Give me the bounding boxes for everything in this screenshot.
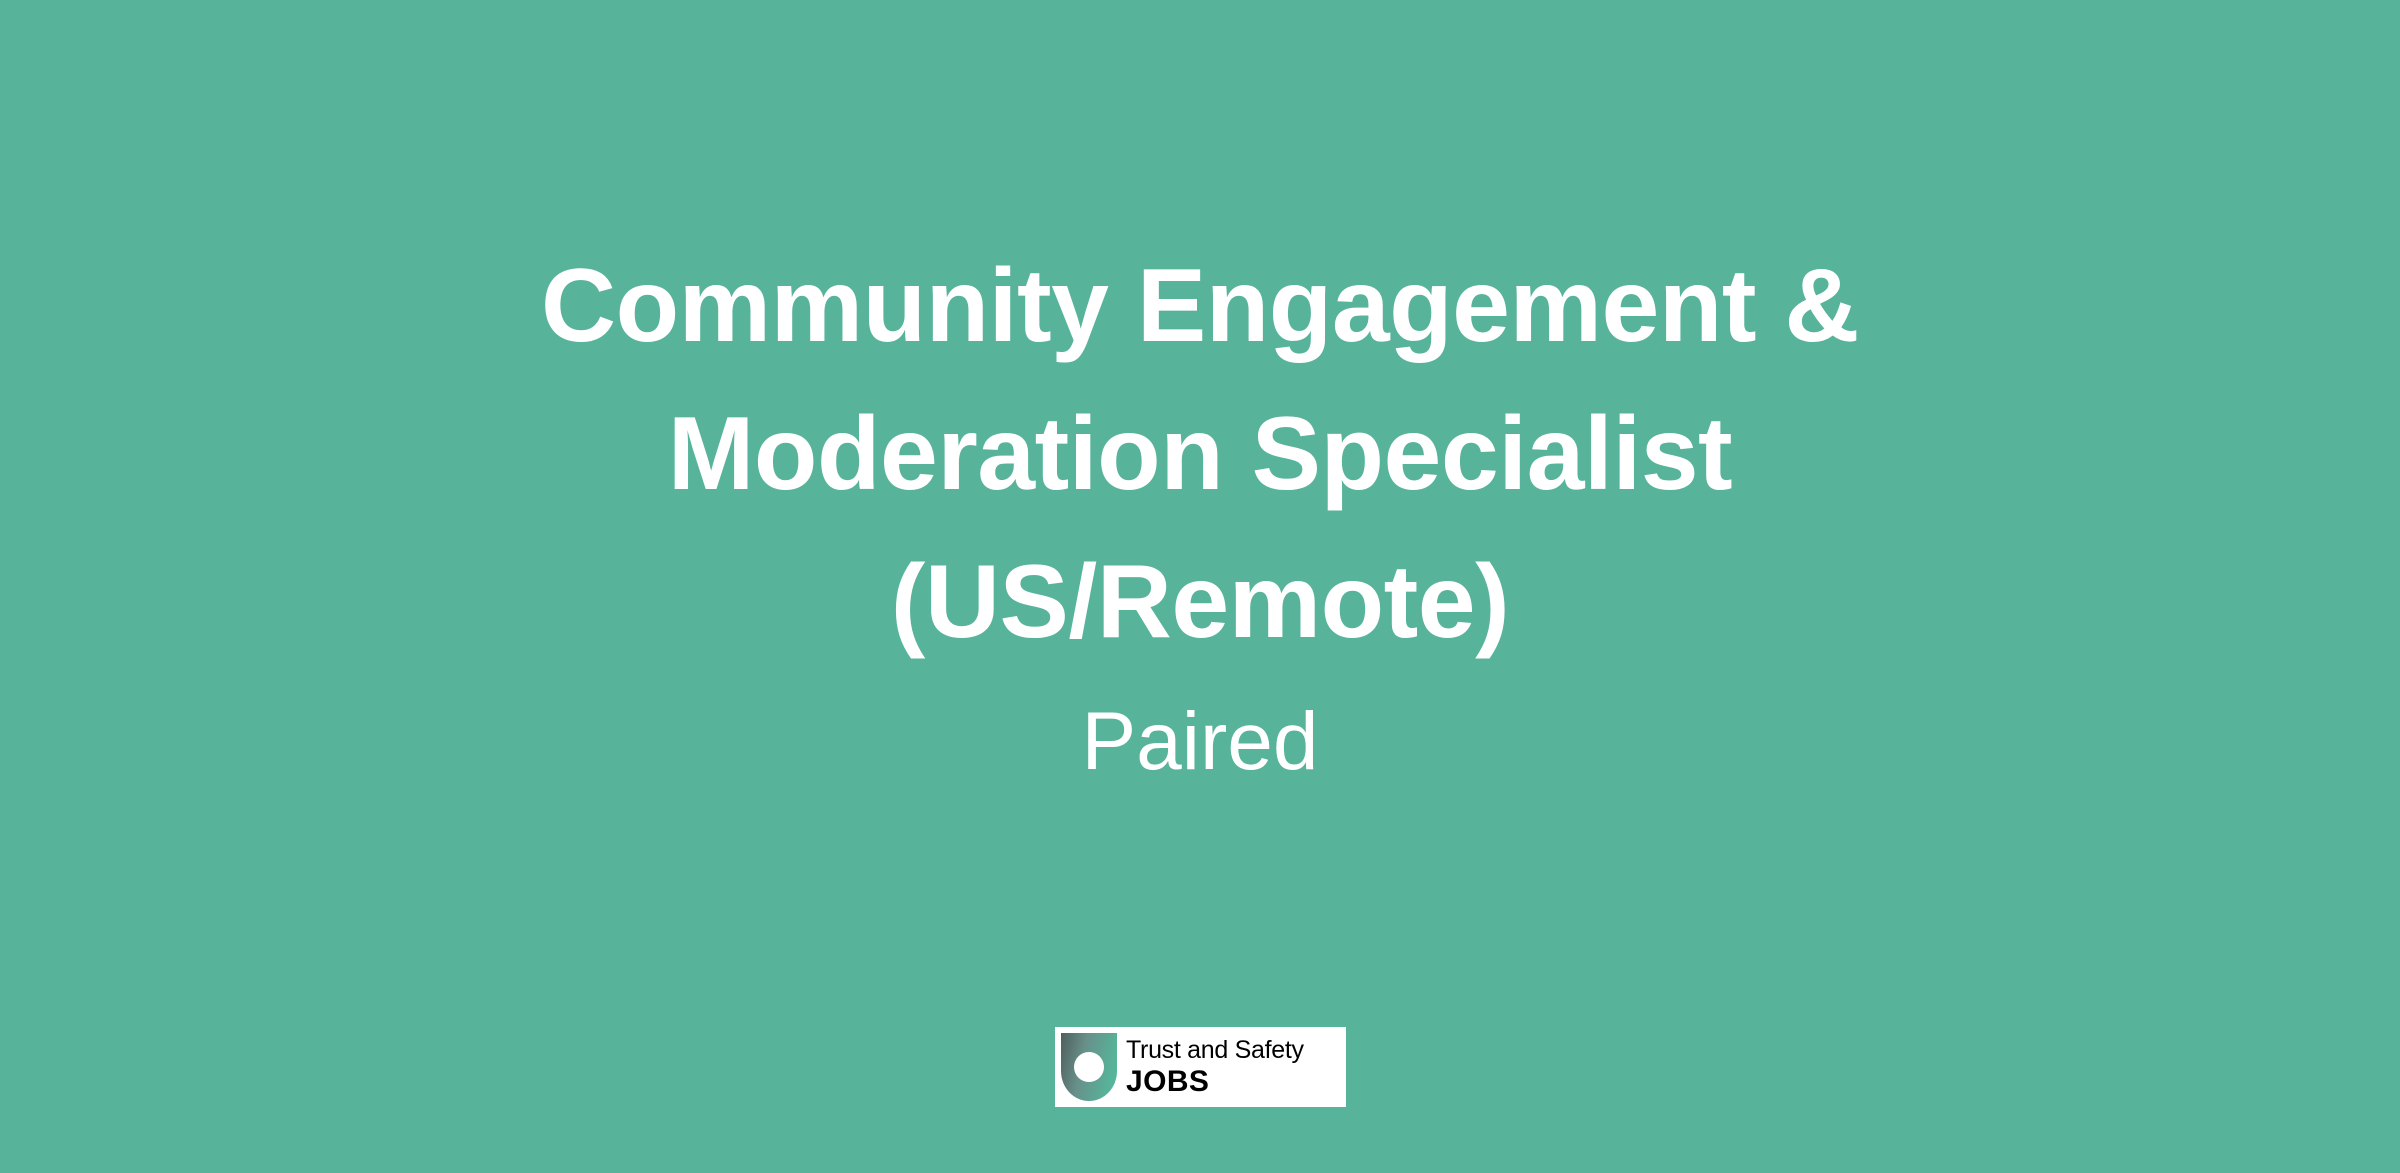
logo-wordmark: Trust and Safety JOBS — [1126, 1035, 1304, 1099]
company-name: Paired — [120, 694, 2280, 790]
headline-block: Community Engagement & Moderation Specia… — [0, 232, 2400, 790]
job-posting-poster: Community Engagement & Moderation Specia… — [0, 0, 2400, 1173]
trust-and-safety-jobs-logo: Trust and Safety JOBS — [1055, 1027, 1346, 1107]
logo-wordmark-line-2: JOBS — [1126, 1065, 1304, 1099]
logo-wordmark-line-1: Trust and Safety — [1126, 1035, 1304, 1065]
page-title: Community Engagement & Moderation Specia… — [120, 232, 2280, 676]
shield-circle-icon — [1060, 1031, 1118, 1103]
